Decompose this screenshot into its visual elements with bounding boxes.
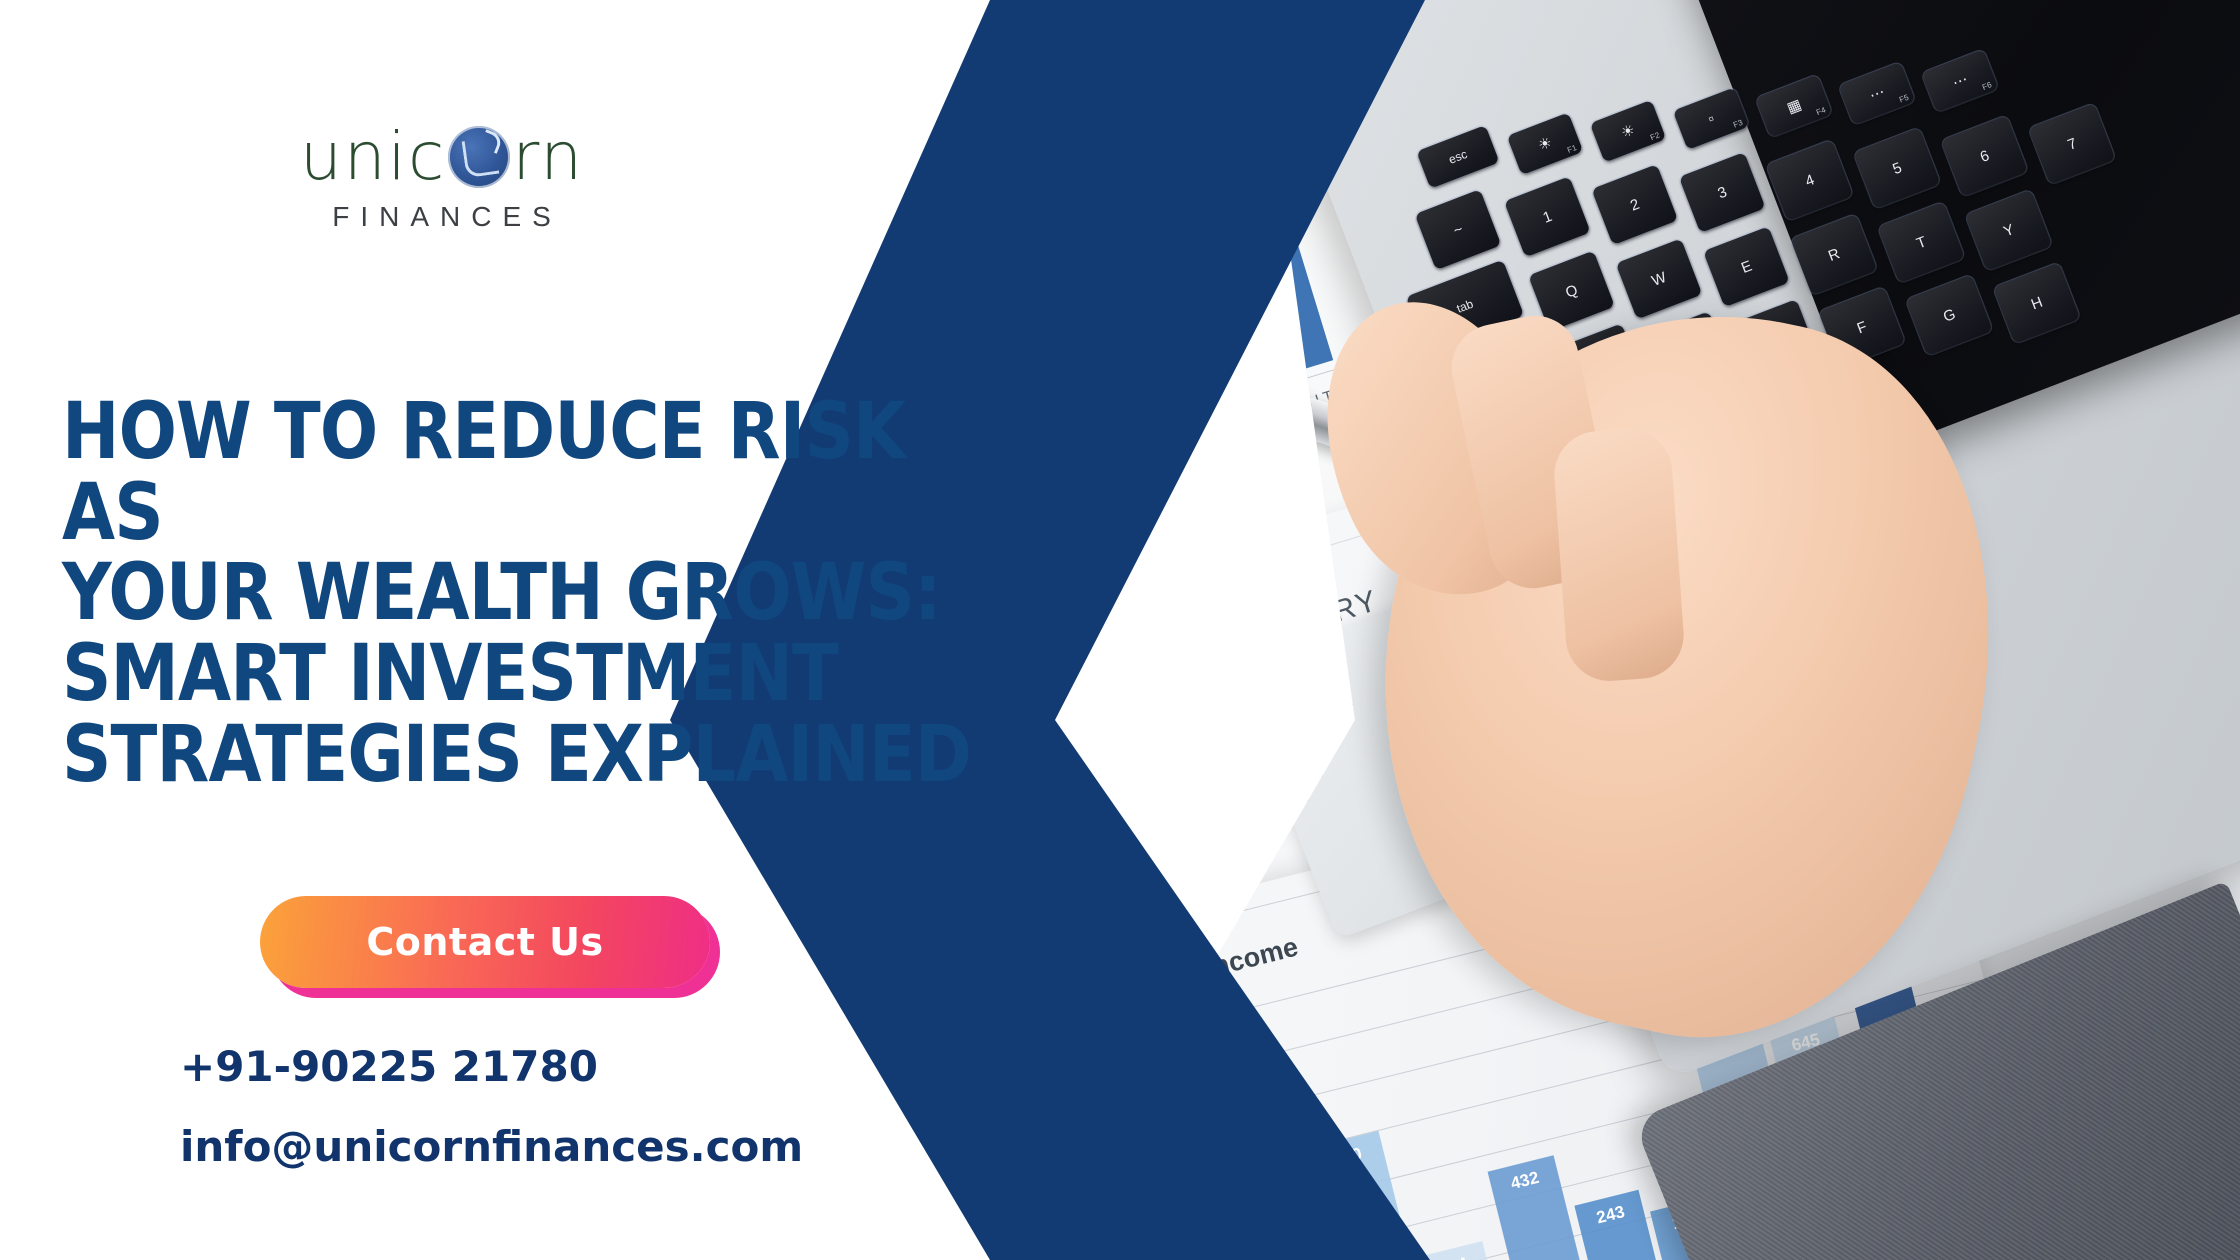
left-content: unic rn FINANCES HOW TO REDUCE RISK AS Y… bbox=[0, 0, 1120, 1260]
unicorn-circle-icon bbox=[448, 126, 510, 188]
marketing-banner: 180 180 745 645 874 946 846 393 765 AP bbox=[0, 0, 2240, 1260]
headline-line-2: YOUR WEALTH GROWS: bbox=[62, 548, 941, 638]
brand-wordmark: unic rn bbox=[300, 118, 584, 195]
contact-email[interactable]: info@unicornfinances.com bbox=[180, 1122, 803, 1171]
brand-name-post: rn bbox=[512, 118, 584, 195]
brand-name-pre: unic bbox=[300, 118, 446, 195]
contact-phone[interactable]: +91-90225 21780 bbox=[180, 1042, 598, 1091]
headline-line-3: SMART INVESTMENT bbox=[62, 629, 838, 719]
contact-us-button[interactable]: Contact Us bbox=[260, 896, 710, 988]
brand-subtitle: FINANCES bbox=[300, 201, 584, 233]
page-title: HOW TO REDUCE RISK AS YOUR WEALTH GROWS:… bbox=[62, 392, 995, 796]
brand-logo: unic rn FINANCES bbox=[300, 118, 584, 233]
headline-line-4: STRATEGIES EXPLAINED bbox=[62, 710, 971, 800]
headline-line-1: HOW TO REDUCE RISK AS bbox=[62, 387, 905, 558]
